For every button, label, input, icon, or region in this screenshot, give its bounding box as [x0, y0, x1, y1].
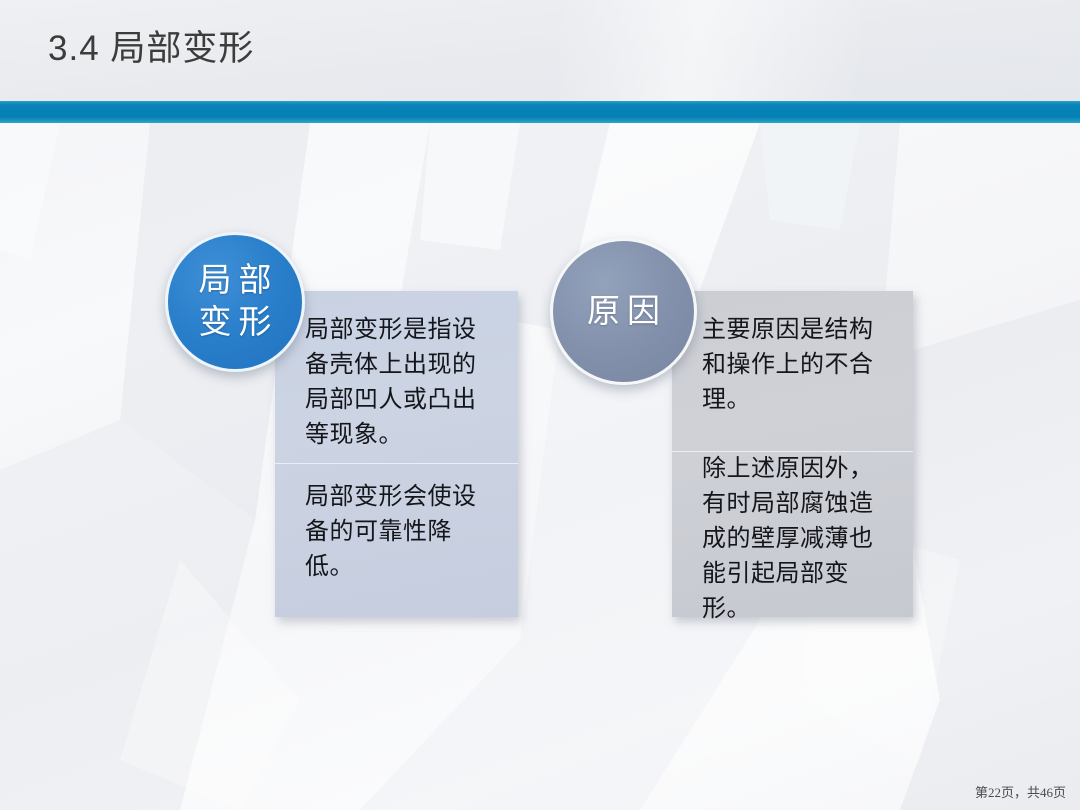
card-cause-upper-cell: 主要原因是结构和操作上的不合理。 [672, 291, 913, 451]
node-circle-deform-line-2: 变形 [192, 302, 279, 344]
slide-canvas: 3.4 局部变形 局部 变形 局部变形是指设备壳体上出现的局部凹人或凸出等现象。… [0, 0, 1080, 810]
node-circle-cause-line-1: 原因 [580, 291, 667, 333]
node-circle-deform[interactable]: 局部 变形 [165, 232, 305, 372]
slide-header: 3.4 局部变形 [0, 0, 1080, 101]
page-title: 3.4 局部变形 [48, 24, 254, 74]
card-deform[interactable]: 局部变形是指设备壳体上出现的局部凹人或凸出等现象。 局部变形会使设备的可靠性降低… [275, 291, 518, 617]
card-cause-upper-text: 主要原因是结构和操作上的不合理。 [702, 313, 893, 418]
card-cause-lower-cell: 除上述原因外，有时局部腐蚀造成的壁厚减薄也能引起局部变形。 [672, 452, 913, 643]
card-cause[interactable]: 主要原因是结构和操作上的不合理。 除上述原因外，有时局部腐蚀造成的壁厚减薄也能引… [672, 291, 913, 617]
card-deform-lower-text: 局部变形会使设备的可靠性降低。 [305, 480, 498, 585]
title-accent-bar [0, 101, 1080, 123]
card-deform-upper-cell: 局部变形是指设备壳体上出现的局部凹人或凸出等现象。 [275, 291, 518, 463]
node-circle-deform-line-1: 局部 [192, 260, 279, 302]
card-deform-lower-cell: 局部变形会使设备的可靠性降低。 [275, 464, 518, 617]
page-number: 第22页，共46页 [975, 784, 1066, 802]
card-deform-upper-text: 局部变形是指设备壳体上出现的局部凹人或凸出等现象。 [305, 313, 498, 453]
card-cause-lower-text: 除上述原因外，有时局部腐蚀造成的壁厚减薄也能引起局部变形。 [702, 452, 893, 627]
node-circle-cause[interactable]: 原因 [550, 238, 697, 385]
